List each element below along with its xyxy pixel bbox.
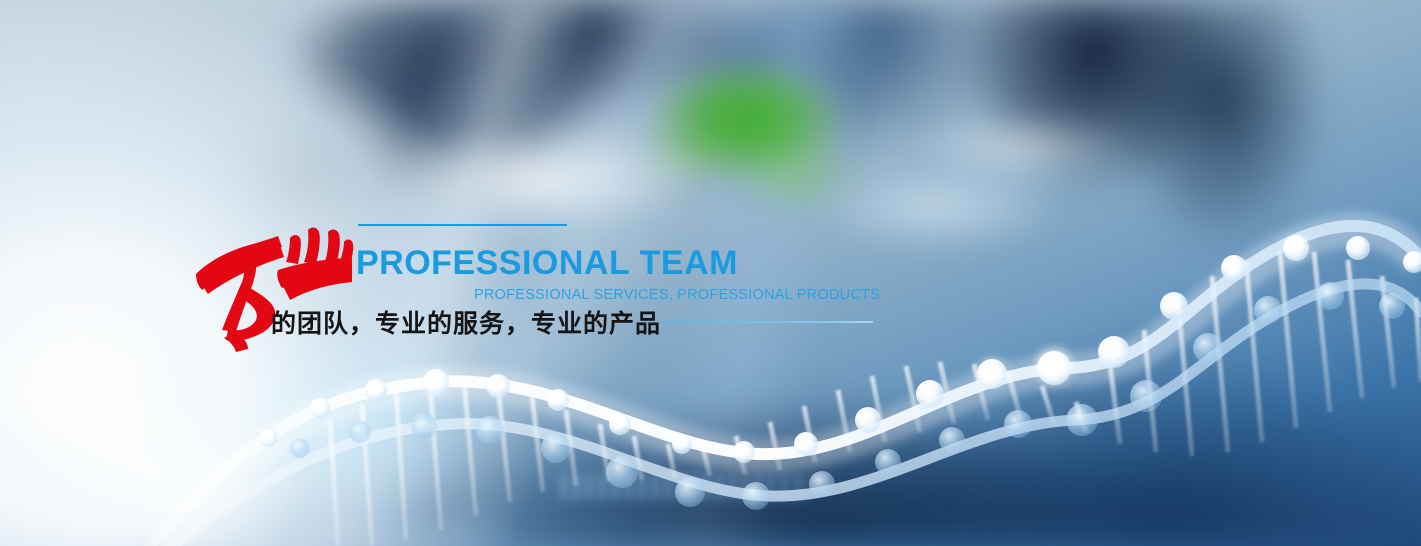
banner-subheadline: PROFESSIONAL SERVICES, PROFESSIONAL PROD… <box>474 286 880 304</box>
bottom-accent-rule <box>662 321 873 323</box>
banner-tagline-chinese: 的团队，专业的服务，专业的产品 <box>271 306 661 342</box>
banner-headline: PROFESSIONAL TEAM <box>356 243 738 283</box>
top-accent-rule <box>358 224 567 226</box>
hero-banner: PROFESSIONAL TEAM PROFESSIONAL SERVICES,… <box>0 0 1421 546</box>
banner-text-block: PROFESSIONAL TEAM PROFESSIONAL SERVICES,… <box>0 0 1421 546</box>
